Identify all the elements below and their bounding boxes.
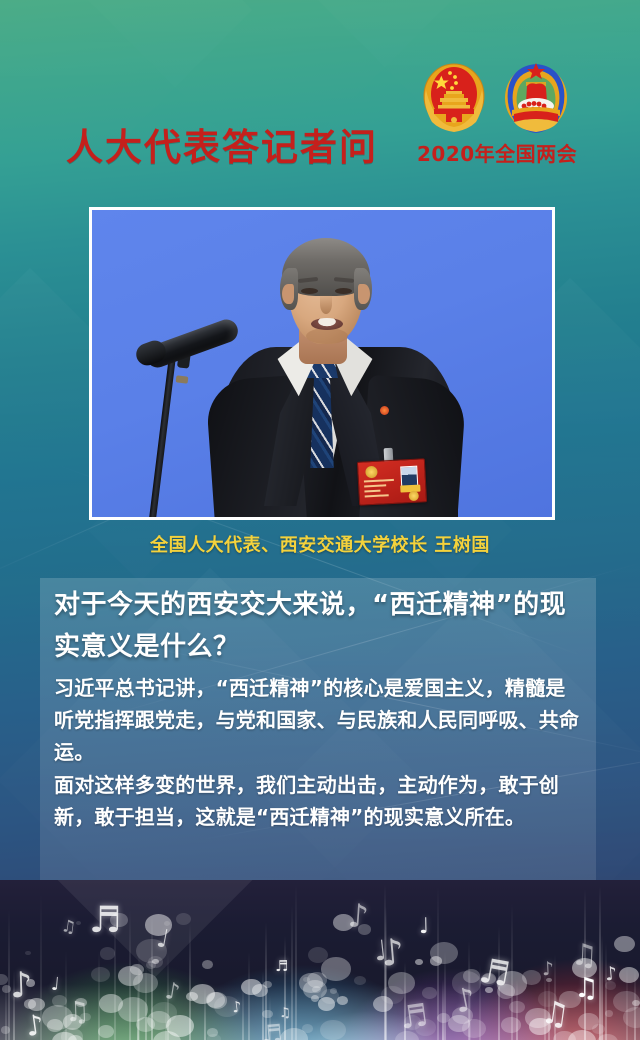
music-note-icon: ♪ (542, 960, 555, 979)
photo-caption: 全国人大代表、西安交通大学校长 王树国 (0, 531, 640, 557)
national-emblem-of-china-icon (420, 60, 488, 136)
poster-root: 人大代表答记者问 (0, 0, 640, 1040)
footer-glow (0, 984, 640, 1040)
music-note-icon: ♬ (89, 902, 122, 938)
music-note-icon: ♪ (347, 899, 370, 933)
music-note-icon: ♫ (570, 941, 598, 972)
delegate-id-badge (357, 458, 427, 505)
page-title: 人大代表答记者问 (66, 117, 378, 171)
cppcc-emblem-icon (502, 60, 570, 136)
emblem-group (415, 58, 575, 136)
speaker-photo (89, 207, 555, 520)
music-note-icon: ♫ (60, 918, 77, 937)
answer-paragraph-2: 面对这样多变的世界，我们主动出击，主动作为，敢于创新，敢于担当，这就是“西迁精神… (40, 768, 596, 833)
music-note-icon: ♪ (604, 965, 618, 985)
music-notes-banner: ♪♫♩♬♪♫♩♬♪♫♪♬♩♪♫♪♬♫♪♩♫♪♬♪ (0, 880, 640, 1040)
music-note-icon: ♬ (275, 959, 289, 974)
question-text: 对于今天的西安交大来说，“西迁精神”的现实意义是什么？ (40, 578, 596, 668)
answer-paragraph-1: 习近平总书记讲，“西迁精神”的核心是爱国主义，精髓是听党指挥跟党走，与党和国家、… (40, 668, 596, 768)
event-subtitle: 2020年全国两会 (417, 138, 577, 167)
qa-panel: 对于今天的西安交大来说，“西迁精神”的现实意义是什么？ 习近平总书记讲，“西迁精… (40, 578, 596, 882)
music-note-icon: ♩ (419, 916, 430, 938)
speaker-figure (92, 210, 552, 517)
poster-header: 人大代表答记者问 (0, 0, 640, 200)
